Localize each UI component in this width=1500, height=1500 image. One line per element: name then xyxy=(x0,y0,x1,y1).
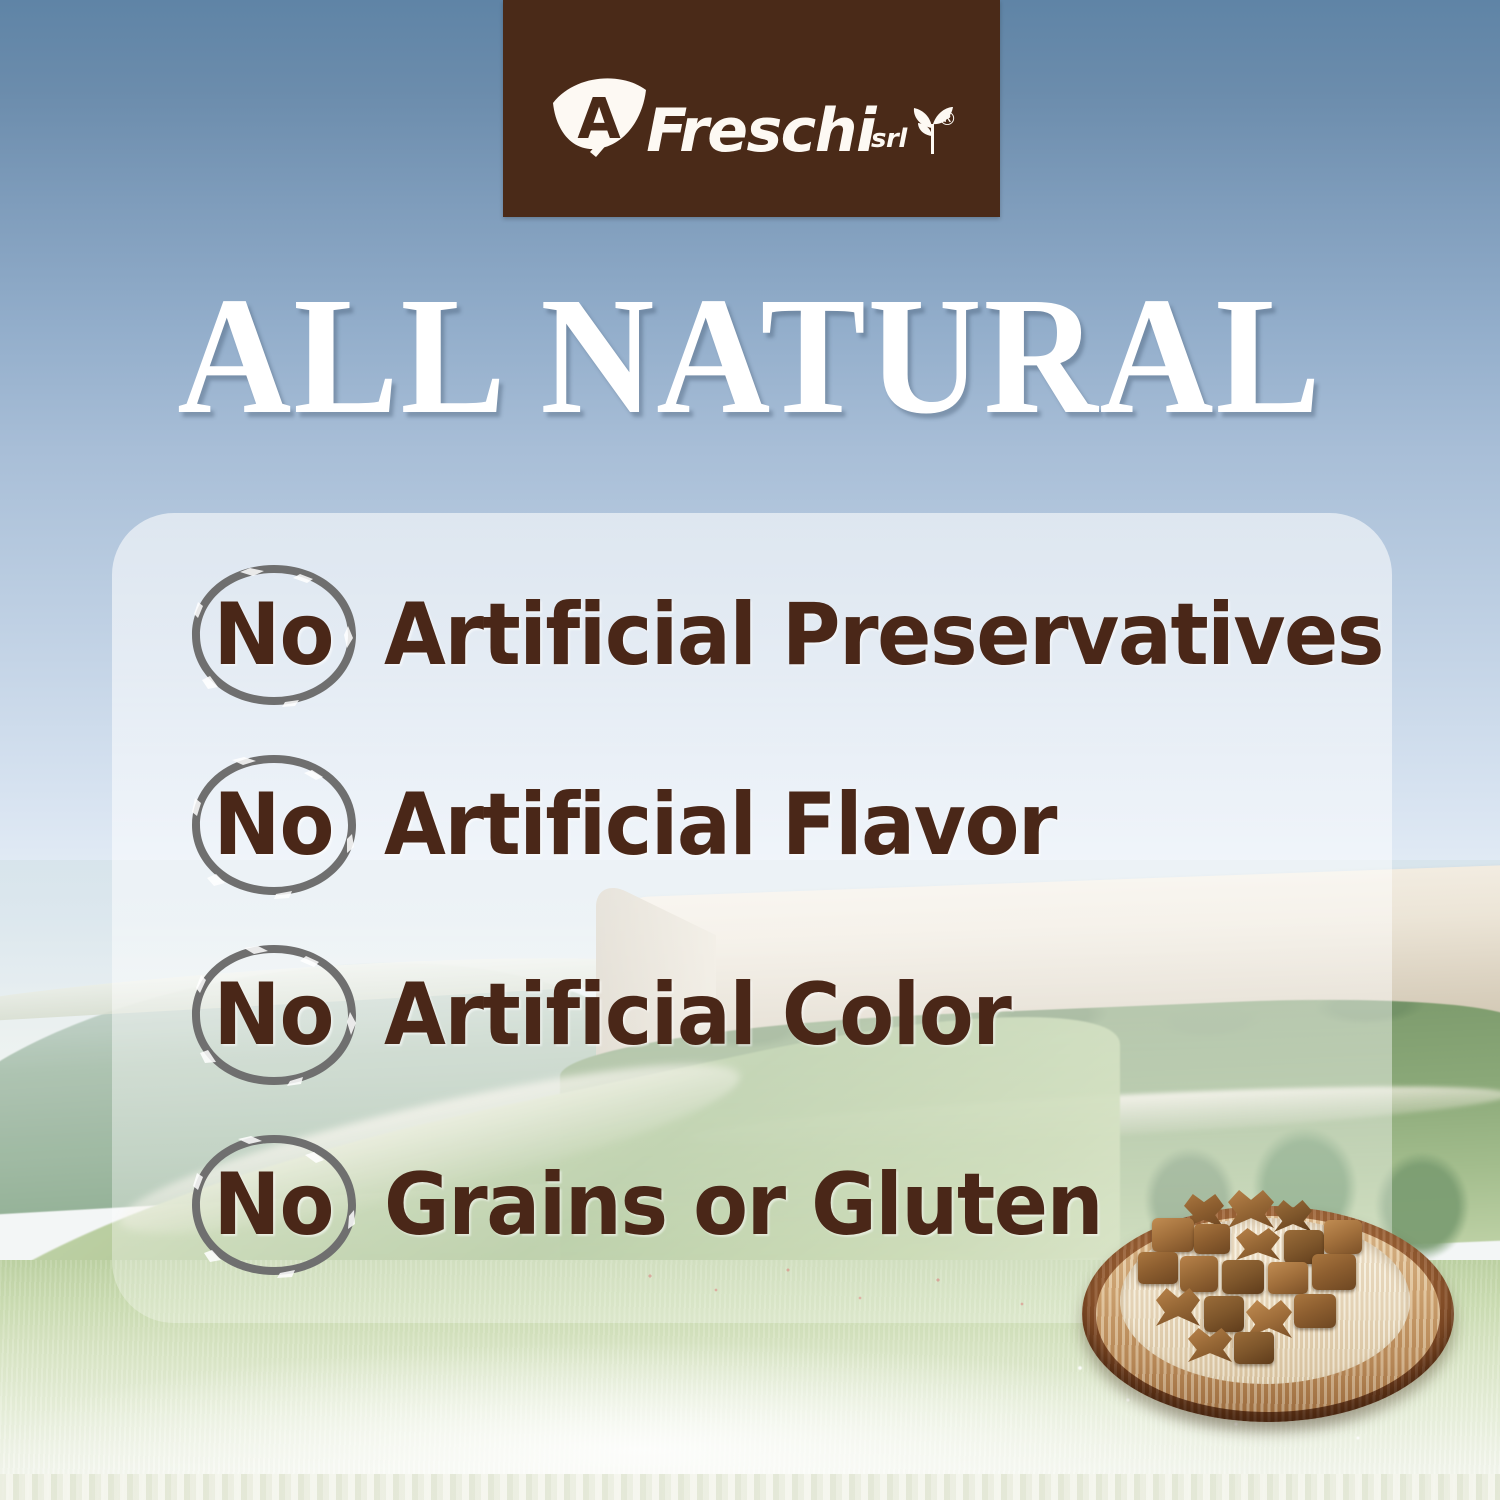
no-label: No xyxy=(214,782,334,868)
no-stamp-circle-icon: No xyxy=(180,1126,368,1284)
brand-wordmark: Freschi xyxy=(646,104,875,158)
no-label: No xyxy=(214,592,334,678)
no-stamp-circle-icon: No xyxy=(180,936,368,1094)
no-stamp-circle-icon: No xyxy=(180,746,368,904)
brand-legal-suffix: srl xyxy=(871,124,907,154)
brand-logo-bar: A Freschi srl ® xyxy=(503,0,1000,217)
list-item: No Artificial Preservatives xyxy=(112,575,1458,695)
product-treats-plate xyxy=(1062,1172,1482,1462)
registered-trademark-icon: ® xyxy=(938,108,957,130)
claim-label: Artificial Preservatives xyxy=(384,592,1383,678)
page-title: ALL NATURAL xyxy=(45,272,1455,440)
bottom-texture-strip xyxy=(0,1474,1500,1500)
sprout-icon: ® xyxy=(911,102,953,154)
dog-treat-pile xyxy=(1132,1190,1400,1366)
claim-label: Artificial Color xyxy=(384,972,1010,1058)
no-label: No xyxy=(214,972,334,1058)
leaf-with-letter-a-icon: A xyxy=(550,76,652,158)
no-stamp-circle-icon: No xyxy=(180,556,368,714)
no-label: No xyxy=(214,1162,334,1248)
list-item: No Artificial Flavor xyxy=(112,765,1107,885)
brand-logo-lockup: A Freschi srl ® xyxy=(503,0,1000,217)
svg-text:A: A xyxy=(578,87,622,152)
claim-label: Grains or Gluten xyxy=(384,1162,1102,1248)
claim-label: Artificial Flavor xyxy=(384,782,1056,868)
all-natural-product-banner: A Freschi srl ® ALL NATURAL xyxy=(0,0,1500,1500)
list-item: No Artificial Color xyxy=(112,955,1058,1075)
list-item: No Grains or Gluten xyxy=(112,1145,1156,1265)
